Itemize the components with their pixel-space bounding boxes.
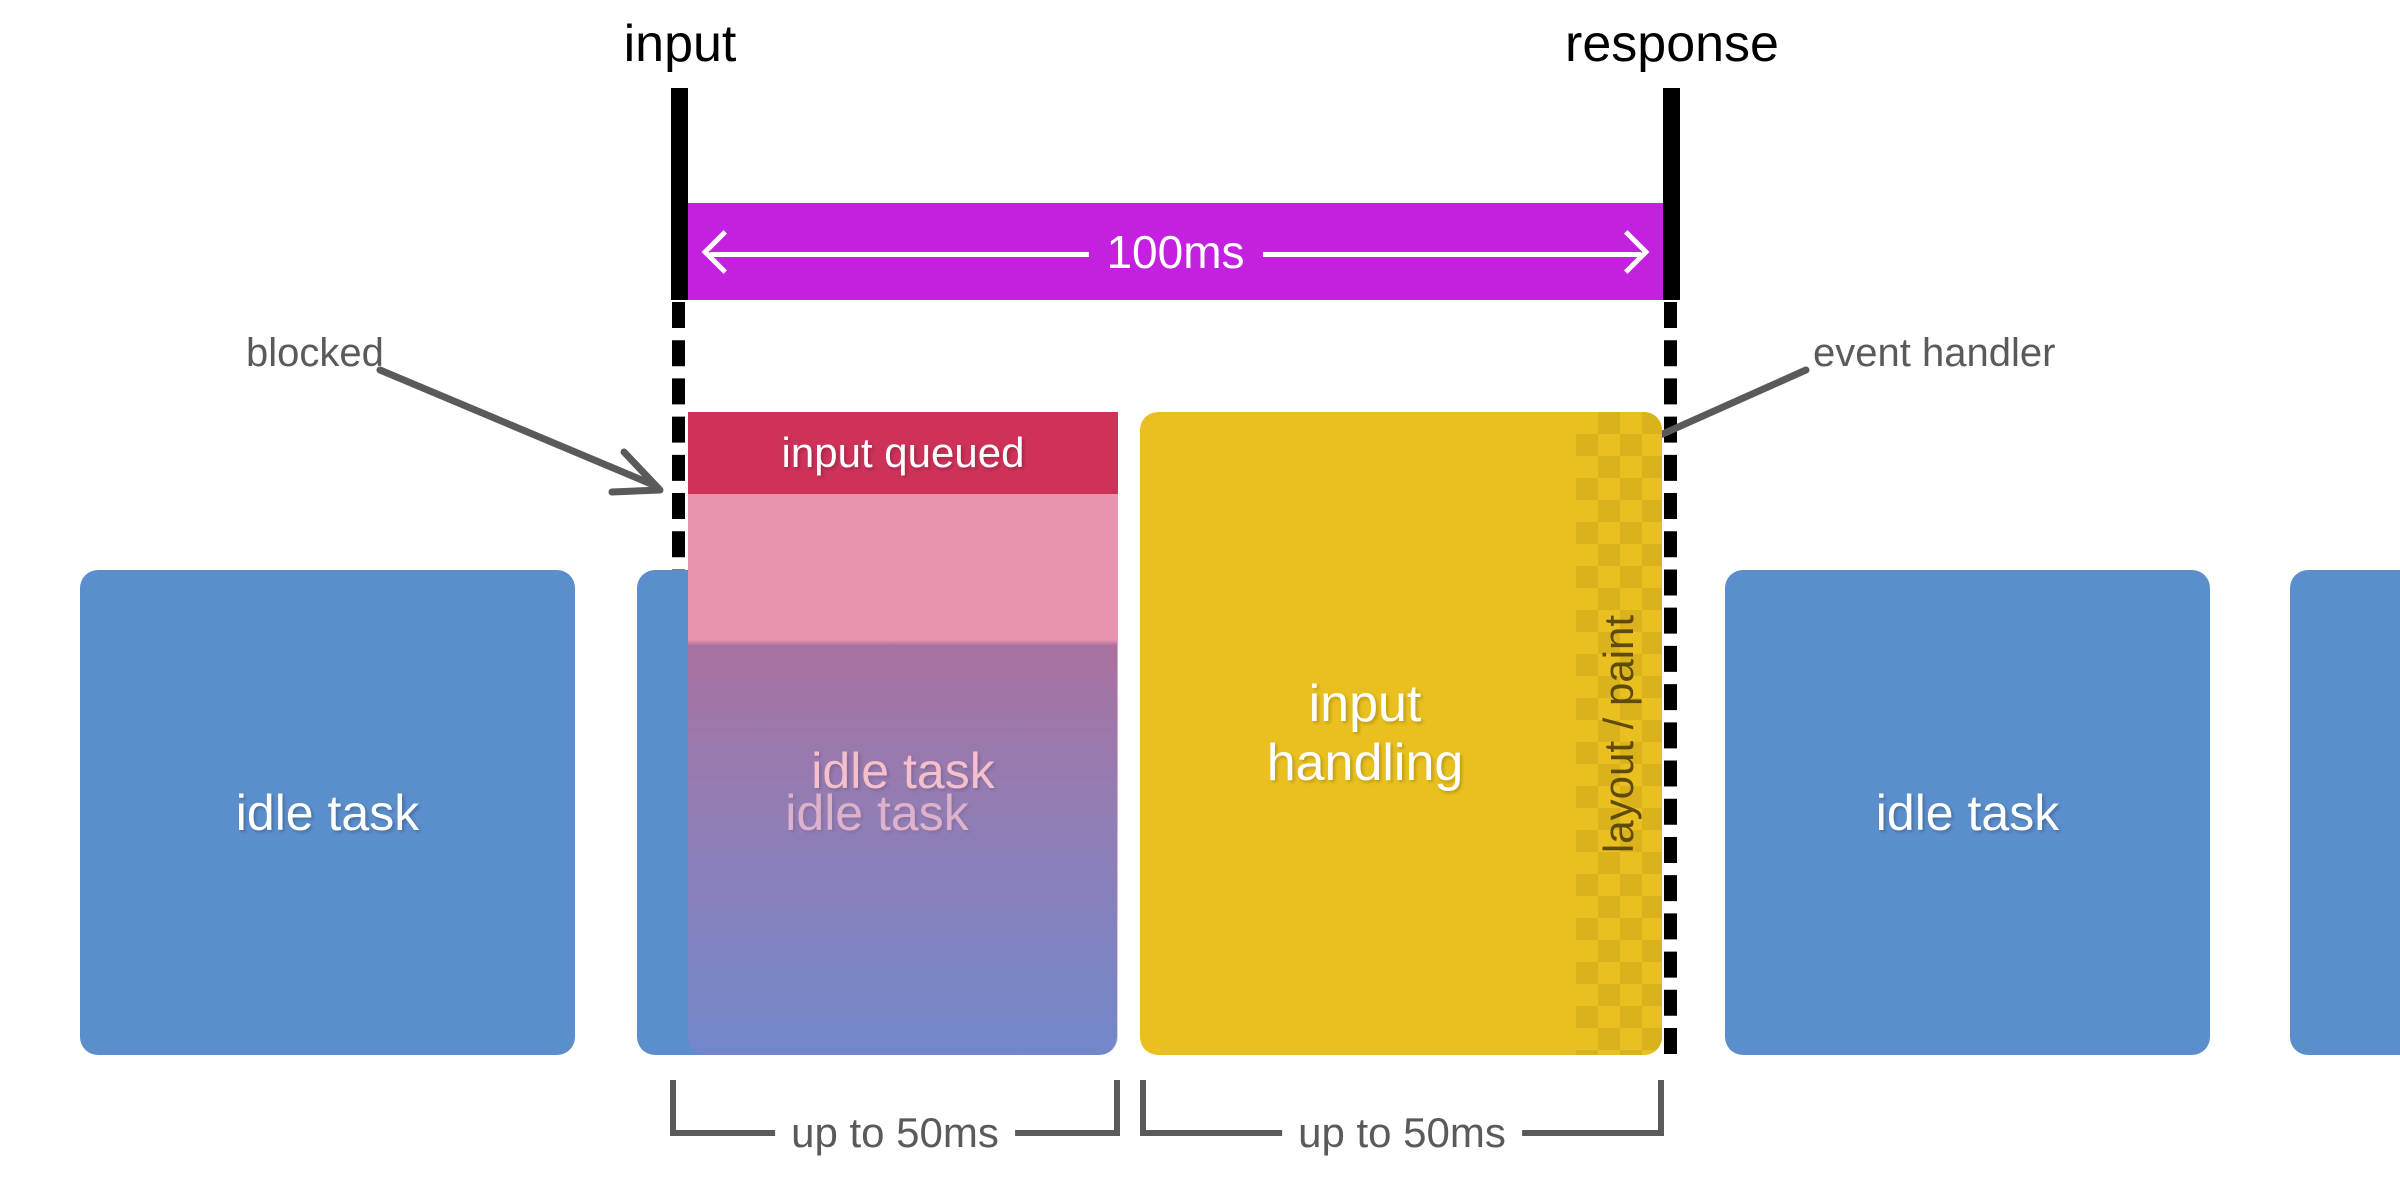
response-marker-rule xyxy=(1663,88,1680,300)
bracket-right-label: up to 50ms xyxy=(1282,1112,1522,1154)
layout-paint-label: layout / paint xyxy=(1598,614,1640,852)
blocked-annotation-label: blocked xyxy=(246,333,384,373)
idle-task-block: idle task xyxy=(1725,570,2210,1055)
idle-task-label: idle task xyxy=(236,784,419,842)
diagram-canvas: input response 100ms blocked event handl… xyxy=(0,0,2400,1200)
response-marker-label: response xyxy=(1565,18,1779,70)
input-marker-rule xyxy=(671,88,688,300)
input-marker-label: input xyxy=(624,18,737,70)
layout-paint-strip: layout / paint xyxy=(1576,412,1662,1055)
idle-task-label: idle task xyxy=(1876,784,2059,842)
right-arrowhead-icon xyxy=(1606,230,1650,274)
input-queued-header: input queued xyxy=(688,412,1118,494)
duration-band-label: 100ms xyxy=(1088,229,1262,275)
input-queued-block: input queued idle task xyxy=(688,412,1118,1055)
input-handling-label-line2: handling xyxy=(1267,734,1464,792)
bracket-left-label: up to 50ms xyxy=(775,1112,1015,1154)
event-handler-annotation-label: event handler xyxy=(1813,333,2055,373)
input-queued-fade-overlay xyxy=(688,494,1118,1055)
blocked-annotation-arrow-icon xyxy=(380,370,690,500)
input-handling-label-line1: input xyxy=(1309,675,1422,733)
duration-band-100ms: 100ms xyxy=(688,203,1663,300)
idle-task-block: idle task xyxy=(80,570,575,1055)
input-handling-block: input handling layout / paint xyxy=(1140,412,1662,1055)
input-handling-label: input handling xyxy=(1140,412,1590,1055)
idle-task-block-partial xyxy=(2290,570,2400,1055)
left-arrowhead-icon xyxy=(702,230,746,274)
input-queued-label: input queued xyxy=(782,429,1025,477)
